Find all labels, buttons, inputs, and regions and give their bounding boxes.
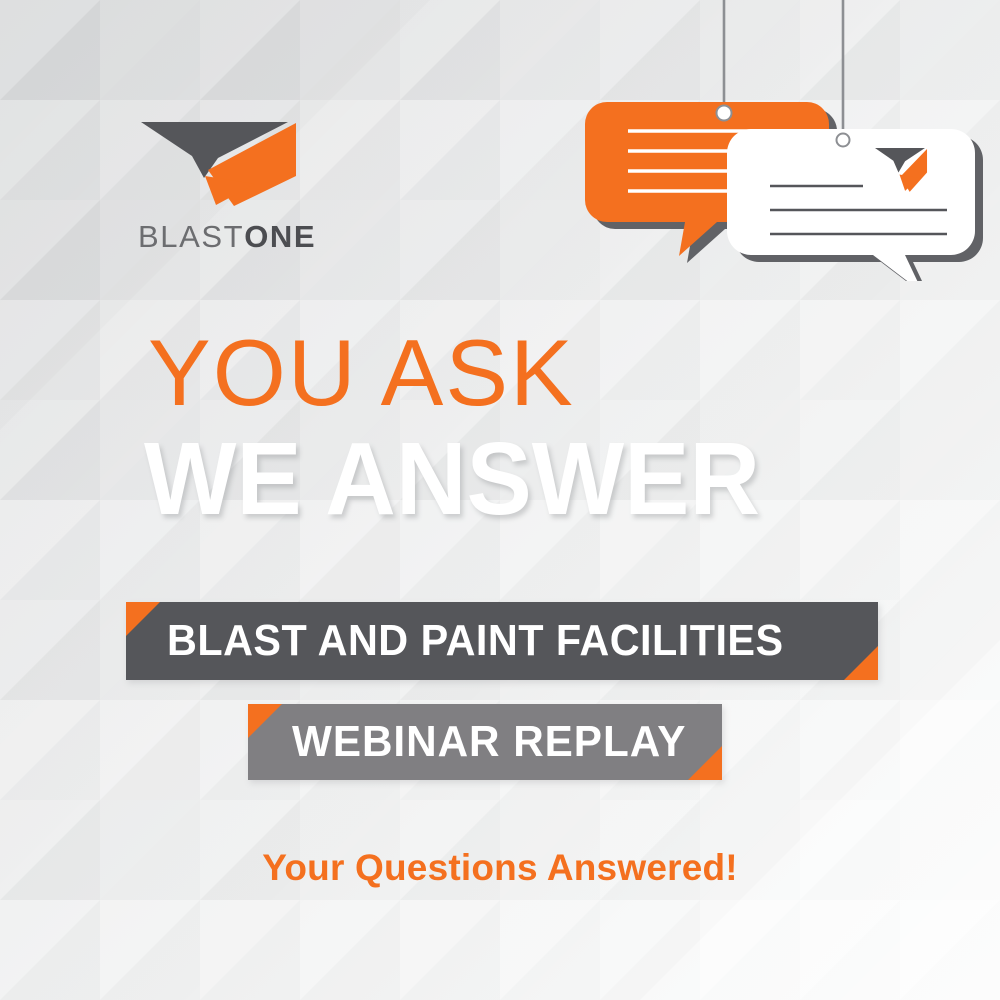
orange-corner-triangle-icon bbox=[844, 646, 878, 680]
brand-logo: BLASTONE bbox=[138, 112, 338, 252]
string-pin-circle-icon bbox=[717, 106, 732, 121]
tagline: Your Questions Answered! bbox=[0, 849, 1000, 886]
format-banner: WEBINAR REPLAY bbox=[248, 704, 722, 780]
orange-corner-triangle-icon bbox=[126, 602, 160, 636]
topic-banner: BLAST AND PAINT FACILITIES bbox=[126, 602, 878, 680]
orange-corner-triangle-icon bbox=[248, 704, 282, 738]
webinar-promo-poster: BLASTONE YOU ASK WE ANSWER BLAST AND PAI… bbox=[0, 0, 1000, 1000]
brand-wordmark-bold: ONE bbox=[244, 219, 316, 254]
blastone-arrow-logo-icon bbox=[138, 112, 310, 208]
brand-wordmark-light: BLAST bbox=[138, 219, 244, 254]
headline-line-1: YOU ASK bbox=[148, 326, 575, 420]
orange-corner-triangle-icon bbox=[688, 746, 722, 780]
headline-line-2: WE ANSWER bbox=[144, 427, 760, 530]
brand-wordmark: BLASTONE bbox=[138, 221, 338, 252]
hanging-speech-bubbles-icon bbox=[575, 0, 1000, 276]
topic-banner-label: BLAST AND PAINT FACILITIES bbox=[167, 619, 784, 663]
format-banner-label: WEBINAR REPLAY bbox=[292, 720, 686, 764]
string-pin-circle-icon bbox=[837, 134, 850, 147]
